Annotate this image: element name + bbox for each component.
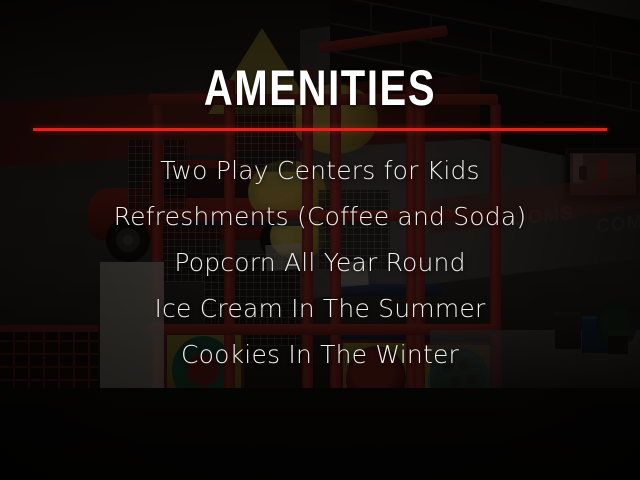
amenities-slide: OOMS COM: [0, 0, 640, 480]
title-divider-rule: [33, 128, 607, 131]
slide-content: AMENITIES Two Play Centers for Kids Refr…: [0, 0, 640, 480]
list-item: Refreshments (Coffee and Soda): [0, 194, 640, 240]
list-item: Popcorn All Year Round: [0, 240, 640, 286]
amenities-list: Two Play Centers for Kids Refreshments (…: [0, 148, 640, 378]
slide-title: AMENITIES: [64, 63, 576, 113]
list-item: Cookies In The Winter: [0, 332, 640, 378]
list-item: Two Play Centers for Kids: [0, 148, 640, 194]
list-item: Ice Cream In The Summer: [0, 286, 640, 332]
